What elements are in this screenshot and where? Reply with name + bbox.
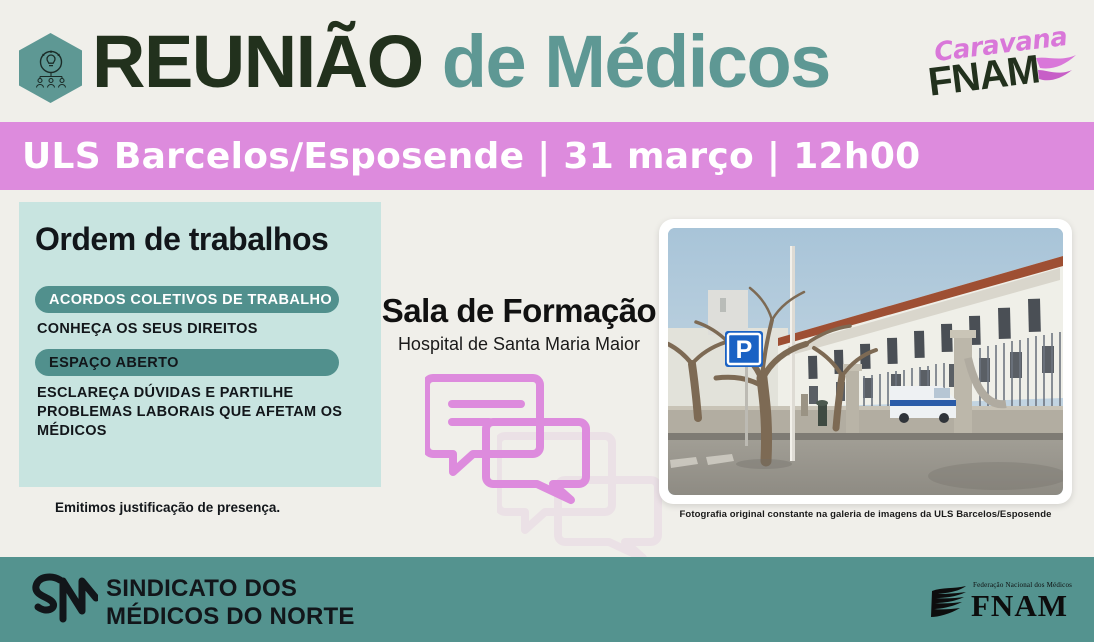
- meeting-logo: [19, 33, 82, 103]
- caravana-fnam-logo: Caravana FNAM: [928, 28, 1068, 100]
- chat-bubbles-main-icon: [425, 370, 595, 510]
- venue-block: Sala de Formação Hospital de Santa Maria…: [380, 292, 658, 356]
- agenda-pill-label: ESPAÇO ABERTO: [49, 355, 179, 371]
- agenda-description-1: CONHEÇA OS SEUS DIREITOS: [37, 321, 258, 337]
- chat-bubbles-icon: [425, 370, 625, 530]
- photo-caption: Fotografia original constante na galeria…: [659, 509, 1072, 520]
- title-part-reuniao: REUNIÃO: [92, 20, 423, 103]
- agenda-pill-label: ACORDOS COLETIVOS DE TRABALHO: [49, 292, 332, 308]
- page-title: REUNIÃO de Médicos: [92, 19, 830, 105]
- fnam-name: FNAM: [971, 588, 1068, 624]
- banner-text: ULS Barcelos/Esposende | 31 março | 12h0…: [22, 136, 921, 177]
- union-name-line2: MÉDICOS DO NORTE: [106, 603, 355, 631]
- parking-sign-label: P: [736, 336, 753, 364]
- sindicato-medicos-monogram-icon: [30, 573, 98, 625]
- footer: SINDICATO DOS MÉDICOS DO NORTE Federação…: [0, 557, 1094, 642]
- agenda-description-2: ESCLAREÇA DÚVIDAS E PARTILHE PROBLEMAS L…: [37, 384, 381, 441]
- union-name: SINDICATO DOS MÉDICOS DO NORTE: [106, 575, 355, 631]
- agenda-pill-espaco-aberto: ESPAÇO ABERTO: [35, 349, 339, 376]
- event-banner: ULS Barcelos/Esposende | 31 março | 12h0…: [0, 122, 1094, 190]
- poster-canvas: REUNIÃO de Médicos Caravana FNAM ULS Bar…: [0, 0, 1094, 642]
- hospital-street-photo: P: [668, 228, 1063, 495]
- lightbulb-people-hexagon-icon: [19, 33, 82, 103]
- agenda-pill-acordos: ACORDOS COLETIVOS DE TRABALHO: [35, 286, 339, 313]
- fnam-logo: Federação Nacional dos Médicos FNAM: [928, 581, 1058, 623]
- venue-hospital-name: Hospital de Santa Maria Maior: [380, 332, 658, 356]
- fnam-flame-icon: [928, 585, 970, 619]
- attendance-note: Emitimos justificação de presença.: [55, 500, 280, 515]
- venue-room-title: Sala de Formação: [380, 292, 658, 330]
- header: REUNIÃO de Médicos Caravana FNAM: [0, 0, 1094, 120]
- agenda-title: Ordem de trabalhos: [35, 221, 328, 258]
- venue-photo-card: P: [659, 219, 1072, 504]
- union-name-line1: SINDICATO DOS: [106, 575, 355, 603]
- title-part-de-medicos: de Médicos: [423, 20, 830, 103]
- pink-swoosh-icon: [1034, 54, 1078, 88]
- agenda-panel: Ordem de trabalhos ACORDOS COLETIVOS DE …: [19, 202, 381, 487]
